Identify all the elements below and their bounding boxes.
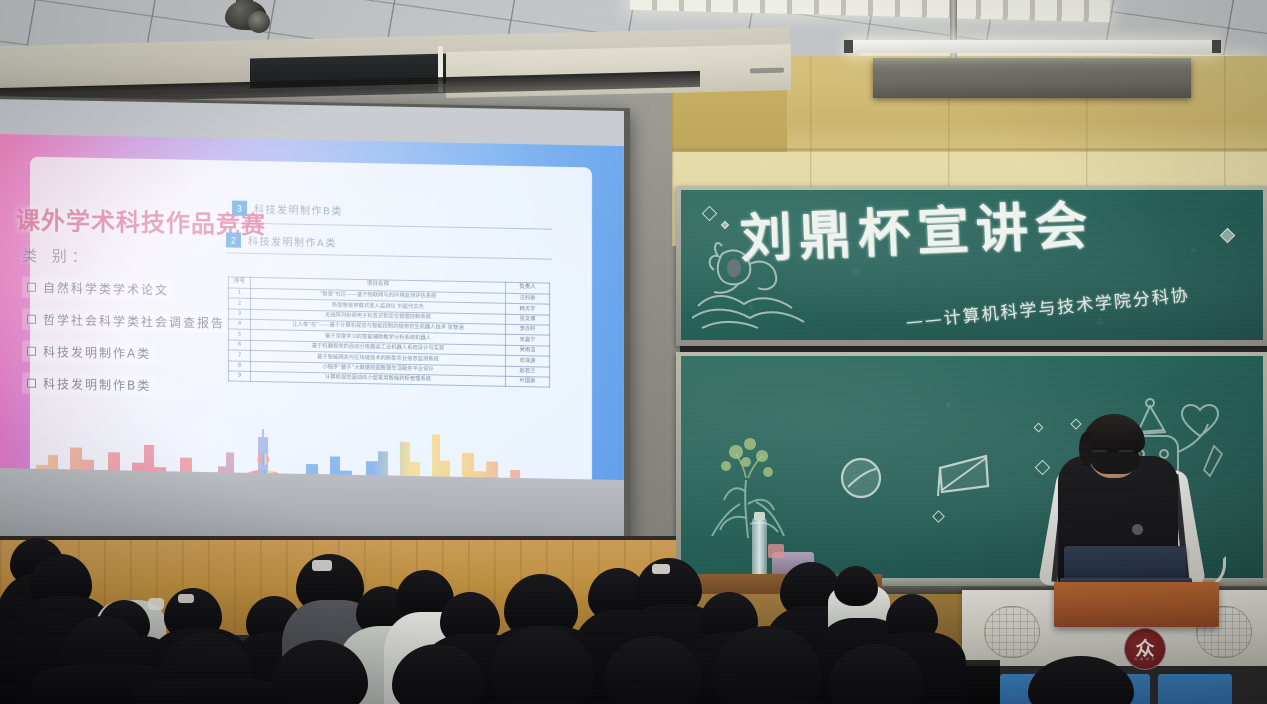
- pane-number-badge-1: 3: [232, 201, 247, 216]
- presenter-jacket-logo: [1132, 524, 1143, 535]
- cell-no: 4: [229, 319, 251, 330]
- slide-pane-heading-1: 3 科技发明制作B类: [232, 201, 343, 218]
- slide-checkbox-row-3: 科技发明制作A类: [22, 340, 156, 364]
- cell-no: 2: [229, 298, 251, 309]
- chair-4: [1158, 674, 1232, 704]
- checkbox-label-3: 科技发明制作A类: [43, 343, 151, 362]
- hair-clip: [652, 564, 670, 574]
- face-mask: [148, 598, 164, 610]
- checkbox-icon-3: [27, 347, 36, 356]
- project-table-body: 1“智慧”社区——基于物联网与的环境监测评估系统汪科豪2新型智能穿戴式老人监测仪…: [229, 288, 550, 388]
- pane-number-badge-2: 2: [226, 232, 241, 247]
- slide-checkbox-row-2: 哲学社会科学类社会调查报告: [22, 308, 230, 333]
- slide-category-label: 类 别：: [22, 244, 92, 266]
- circle-ball-chalk-drawing: [838, 455, 884, 501]
- projector-lens-icon: [248, 11, 270, 33]
- checkbox-label-2: 哲学社会科学类社会调查报告: [43, 311, 225, 331]
- cell-person: 叶国豪: [506, 376, 550, 387]
- audience-head: [834, 566, 878, 606]
- sparkle-cluster-chalk-drawing: [1196, 440, 1232, 480]
- cell-no: 8: [229, 360, 251, 371]
- checkbox-icon-4: [27, 379, 36, 388]
- checkbox-label-4: 科技发明制作B类: [43, 375, 151, 394]
- slide-checkbox-row-1: 自然科学类学术论文: [22, 276, 174, 300]
- audience-head-foreground: [1028, 656, 1134, 704]
- cell-no: 1: [229, 288, 251, 299]
- hair-clip: [312, 560, 332, 571]
- pane-heading-text-1: 科技发明制作B类: [254, 201, 343, 218]
- light-tube-cap-left: [844, 40, 853, 53]
- light-tube-cap-right: [1212, 40, 1221, 53]
- cell-no: 3: [229, 309, 251, 320]
- checkbox-icon-1: [27, 283, 36, 292]
- checkbox-icon-2: [27, 315, 36, 324]
- cell-no: 9: [229, 371, 251, 382]
- projected-slide: 课外学术科技作品竞赛 类 别： 自然科学类学术论文 哲学社会科学类社会调查报告 …: [0, 134, 624, 518]
- wall-horizontal-seam: [672, 148, 1267, 151]
- audience: [0, 540, 1267, 704]
- presenter-collar: [1090, 452, 1140, 474]
- table-header-no: 序号: [229, 277, 251, 288]
- pane-heading-text-2: 科技发明制作A类: [248, 233, 337, 250]
- soffit-logo-plate: [750, 68, 784, 74]
- hanging-board-light-tube: [848, 40, 1216, 53]
- flower-plant-chalk-drawing: [706, 432, 792, 544]
- rabbit-on-rocks-chalk-drawing: [692, 228, 812, 336]
- checkbox-label-1: 自然科学类学术论文: [43, 279, 169, 298]
- hair-clip: [178, 594, 194, 603]
- flag-quadrilateral-chalk-drawing: [936, 452, 994, 496]
- slide-checkbox-row-4: 科技发明制作B类: [22, 372, 156, 396]
- project-table: 序号 项目名称 负责人 1“智慧”社区——基于物联网与的环境监测评估系统汪科豪2…: [228, 276, 550, 387]
- hanging-board-light-housing: [873, 58, 1191, 98]
- audience-body-foreground: [132, 678, 288, 704]
- cell-no: 6: [229, 340, 251, 351]
- cell-no: 7: [229, 350, 251, 361]
- water-bottle-cap: [754, 512, 765, 520]
- slide-pane-heading-2: 2 科技发明制作A类: [226, 232, 337, 249]
- cell-no: 5: [229, 329, 251, 340]
- lecture-hall-photo: 刘鼎杯宣讲会 ——计算机科学与技术学院分科协: [0, 0, 1267, 704]
- table-header-person: 负责人: [506, 282, 550, 294]
